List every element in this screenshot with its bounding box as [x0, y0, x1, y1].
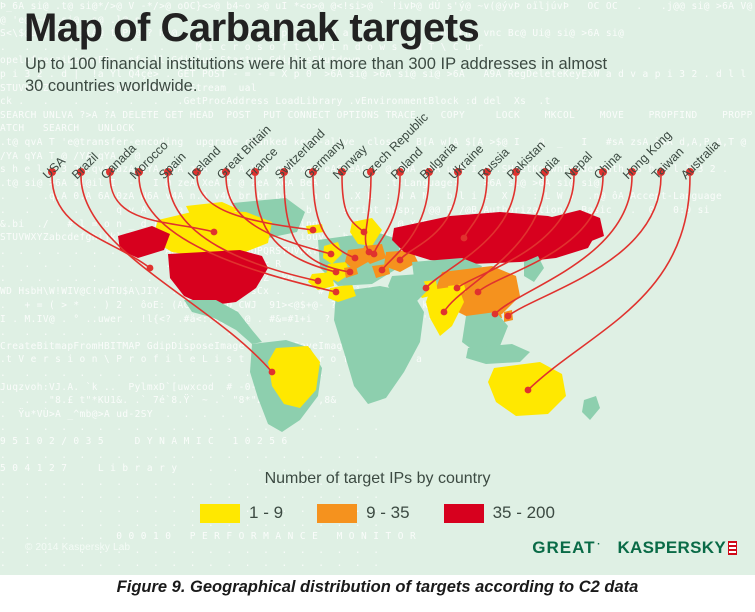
kaspersky-logo-text: KASPERSKY	[617, 538, 726, 558]
land-new-zealand	[582, 396, 600, 420]
great-logo-text: GREAT	[532, 538, 595, 557]
kaspersky-logo: KASPERSKY	[617, 538, 737, 558]
great-logo-mark: ·	[597, 539, 601, 550]
world-map	[0, 0, 755, 575]
country-label-nepal: Nepal	[562, 149, 595, 182]
legend-swatch-orange	[317, 504, 357, 523]
legend-label-medium: 9 - 35	[366, 503, 409, 523]
country-label-ribbon: USA Brazil Canada Morocco Spain Iceland …	[0, 105, 755, 180]
legend-item-low: 1 - 9	[200, 503, 283, 523]
country-label-usa: USA	[40, 154, 68, 182]
country-russia-east	[548, 210, 604, 244]
world-map-svg	[0, 0, 755, 575]
legend-swatch-yellow	[200, 504, 240, 523]
legend-swatch-red	[444, 504, 484, 523]
country-label-china: China	[591, 149, 624, 182]
infographic-root: Þ_6A si@ .t@ si@*/>@ V -*/>@ oOC}<>@ b4~…	[0, 0, 755, 612]
legend-title: Number of target IPs by country	[0, 470, 755, 488]
legend: 1 - 9 9 - 35 35 - 200	[0, 503, 755, 523]
copyright-notice: © 2014 Kaspersky Lab	[25, 542, 130, 553]
legend-item-medium: 9 - 35	[317, 503, 409, 523]
kaspersky-logo-mark	[728, 541, 737, 555]
brand-logos: GREAT · KASPERSKY	[532, 538, 737, 558]
land-africa	[334, 286, 424, 404]
infographic-panel: Þ_6A si@ .t@ si@*/>@ V -*/>@ oOC}<>@ b4~…	[0, 0, 755, 575]
legend-label-low: 1 - 9	[249, 503, 283, 523]
country-label-brazil: Brazil	[69, 150, 101, 182]
great-logo: GREAT ·	[532, 538, 595, 558]
figure-caption: Figure 9. Geographical distribution of t…	[0, 578, 755, 597]
legend-label-high: 35 - 200	[493, 503, 555, 523]
country-label-australia: Australia	[678, 138, 722, 182]
legend-item-high: 35 - 200	[444, 503, 555, 523]
